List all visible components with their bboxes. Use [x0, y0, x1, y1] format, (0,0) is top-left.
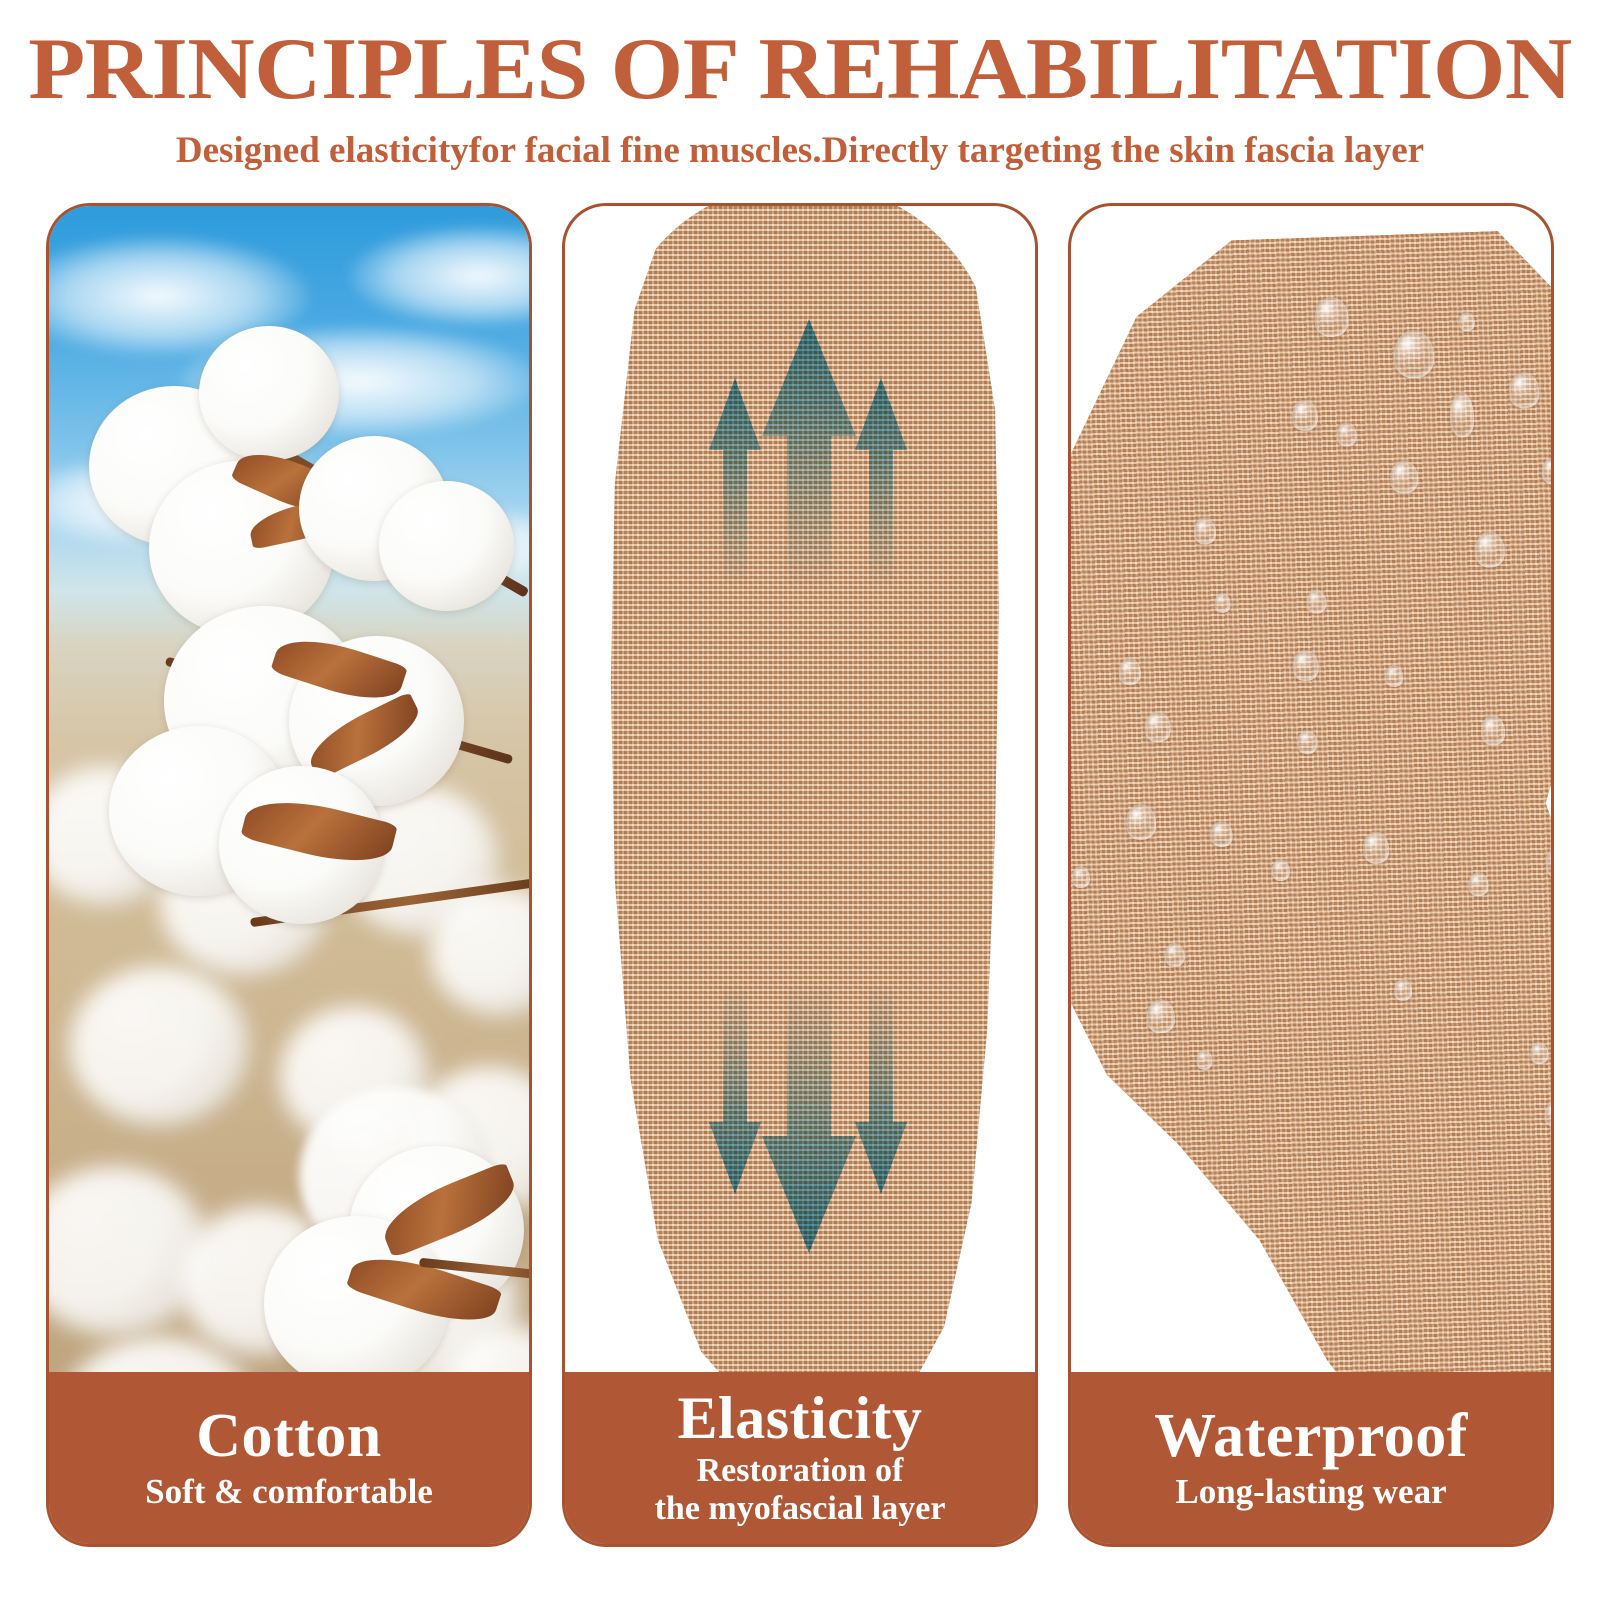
water-droplet — [1193, 517, 1216, 545]
arrow-down-icon-small-left — [707, 986, 763, 1196]
water-droplet — [1297, 730, 1318, 755]
cotton-field-photo — [49, 206, 529, 1372]
fabric-texture — [1071, 224, 1551, 1372]
water-droplet — [1118, 658, 1141, 686]
elasticity-media — [565, 206, 1035, 1372]
card-label-bar: Cotton Soft & comfortable — [49, 1372, 529, 1544]
feature-card-elasticity[interactable]: Elasticity Restoration of the myofascial… — [562, 203, 1038, 1547]
water-droplet — [1164, 942, 1185, 967]
water-droplet — [1306, 589, 1327, 614]
page-subtitle: Designed elasticityfor facial fine muscl… — [0, 114, 1600, 169]
water-droplet — [1394, 978, 1413, 1001]
water-droplet — [1271, 859, 1290, 882]
arrow-down-icon-small-right — [853, 986, 909, 1196]
waterproof-tape-shape — [1071, 224, 1551, 1372]
cotton-boll — [199, 326, 339, 461]
water-droplet — [1530, 1042, 1549, 1065]
card-title: Elasticity — [678, 1388, 923, 1449]
water-droplet — [1196, 1049, 1213, 1070]
water-droplet — [1214, 593, 1231, 614]
water-droplet — [1291, 399, 1318, 431]
arrow-up-icon-large-center — [759, 316, 859, 586]
arrow-down-icon-large-center — [759, 986, 859, 1256]
water-droplet — [1144, 711, 1171, 743]
water-droplet — [1468, 872, 1489, 897]
elastic-tape-shape — [607, 206, 999, 1372]
water-droplet — [1458, 312, 1475, 332]
feature-card-waterproof[interactable]: Waterproof Long-lasting wear — [1068, 203, 1554, 1547]
water-droplet — [1336, 422, 1357, 447]
water-droplet — [1481, 715, 1506, 746]
cotton-photo-media — [49, 206, 529, 1372]
arrow-up-icon-small-right — [853, 376, 909, 586]
card-subtitle: Long-lasting wear — [1175, 1472, 1446, 1511]
water-droplet — [1072, 866, 1091, 889]
card-label-bar: Elasticity Restoration of the myofascial… — [565, 1372, 1035, 1544]
arrow-up-icon-small-left — [707, 376, 763, 586]
card-subtitle: Soft & comfortable — [145, 1472, 433, 1511]
card-label-bar: Waterproof Long-lasting wear — [1071, 1372, 1551, 1544]
card-title: Cotton — [196, 1405, 382, 1468]
header: PRINCIPLES OF REHABILITATION Designed el… — [0, 0, 1600, 169]
page-title: PRINCIPLES OF REHABILITATION — [0, 0, 1600, 114]
water-droplet — [1210, 821, 1233, 848]
waterproof-media — [1071, 206, 1551, 1372]
water-droplet — [1385, 665, 1404, 688]
feature-cards-row: Cotton Soft & comfortable — [46, 203, 1554, 1547]
cotton-boll — [379, 481, 514, 611]
card-subtitle: Restoration of the myofascial layer — [655, 1452, 946, 1528]
feature-card-cotton[interactable]: Cotton Soft & comfortable — [46, 203, 532, 1547]
cloud-shape — [349, 226, 529, 326]
cotton-boll — [69, 966, 249, 1126]
card-title: Waterproof — [1154, 1405, 1468, 1468]
water-droplet — [1292, 650, 1319, 682]
